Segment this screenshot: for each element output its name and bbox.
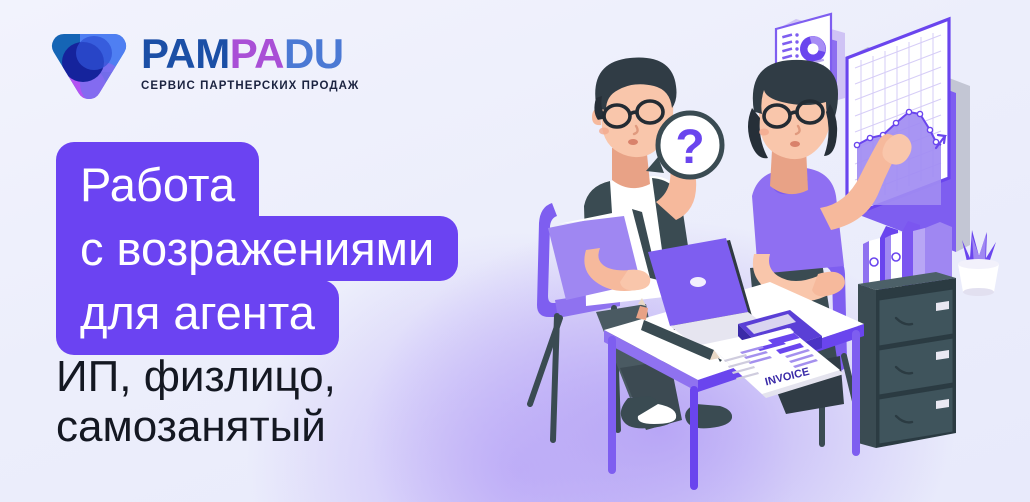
brand-logo[interactable]: PAMPADU СЕРВИС ПАРТНЕРСКИХ ПРОДАЖ bbox=[50, 22, 359, 100]
headline-line-1: Работа bbox=[56, 142, 259, 217]
brand-name-part3: DU bbox=[284, 30, 344, 77]
speech-bubble-text: ? bbox=[675, 121, 704, 174]
page-title: Работа с возражениями для агента bbox=[56, 142, 458, 355]
brand-logo-text: PAMPADU СЕРВИС ПАРТНЕРСКИХ ПРОДАЖ bbox=[141, 31, 359, 92]
page-subtitle: ИП, физлицо, самозанятый bbox=[56, 352, 336, 451]
filing-cabinet-icon bbox=[858, 272, 956, 448]
whiteboard-line-chart-icon bbox=[847, 19, 970, 252]
illustration-scene: ? bbox=[500, 0, 1030, 502]
banner-root: PAMPADU СЕРВИС ПАРТНЕРСКИХ ПРОДАЖ Работа… bbox=[0, 0, 1030, 502]
pampadu-triangle-logo-icon bbox=[50, 22, 128, 100]
headline-line-2: с возражениями bbox=[56, 216, 458, 281]
brand-name: PAMPADU bbox=[141, 33, 359, 75]
headline-line-3: для агента bbox=[56, 280, 339, 355]
brand-name-part1: PAM bbox=[141, 30, 230, 77]
brand-tagline: СЕРВИС ПАРТНЕРСКИХ ПРОДАЖ bbox=[141, 80, 359, 92]
brand-name-part2: PA bbox=[230, 30, 284, 77]
